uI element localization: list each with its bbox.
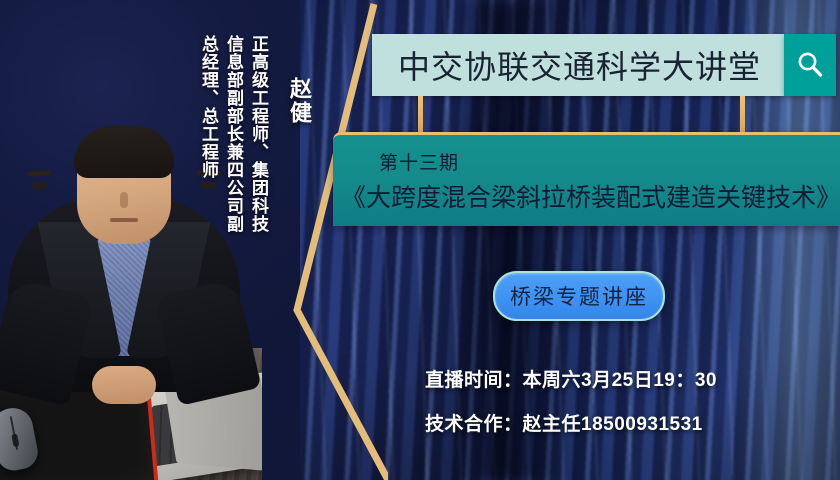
search-button[interactable] <box>784 34 836 96</box>
brand-title: 中交协联交通科学大讲堂 <box>398 42 761 88</box>
live-stream-poster: 中交协联交通科学大讲堂 第十三期 《大跨度混合梁斜拉桥装配式建造关键技术》 桥梁… <box>0 0 840 480</box>
topic-pill-button[interactable]: 桥梁专题讲座 <box>493 271 665 321</box>
clasped-hands <box>92 366 156 404</box>
episode-number: 第十三期 <box>379 148 840 175</box>
speaker-title-line-2: 信息部副部长兼四公司副 <box>225 35 242 233</box>
search-icon <box>795 50 825 80</box>
topic-pill-label: 桥梁专题讲座 <box>510 281 648 311</box>
eyebrow-left <box>27 170 51 177</box>
hair <box>74 126 174 178</box>
nose <box>120 192 128 208</box>
mouse-wheel <box>11 433 19 447</box>
eye-right <box>201 182 216 189</box>
computer-mouse <box>0 405 41 474</box>
lecture-title-banner: 第十三期 《大跨度混合梁斜拉桥装配式建造关键技术》 <box>333 132 840 226</box>
live-time-text: 直播时间：本周六3月25日19：30 <box>425 365 717 392</box>
eye-left <box>32 182 47 189</box>
speaker-title-line-1: 正高级工程师、集团科技 <box>250 35 267 233</box>
gold-post-left <box>418 96 423 136</box>
contact-text: 技术合作：赵主任18500931531 <box>425 409 703 436</box>
speaker-panel <box>0 0 340 480</box>
mouth <box>110 218 138 222</box>
brand-banner: 中交协联交通科学大讲堂 <box>372 34 784 96</box>
lecture-title: 《大跨度混合梁斜拉桥装配式建造关键技术》 <box>341 178 840 214</box>
speaker-title-line-3: 总经理、总工程师 <box>200 35 217 179</box>
speaker-photo <box>0 90 262 480</box>
gold-post-right <box>740 96 745 136</box>
speaker-name: 赵健 <box>288 77 310 125</box>
